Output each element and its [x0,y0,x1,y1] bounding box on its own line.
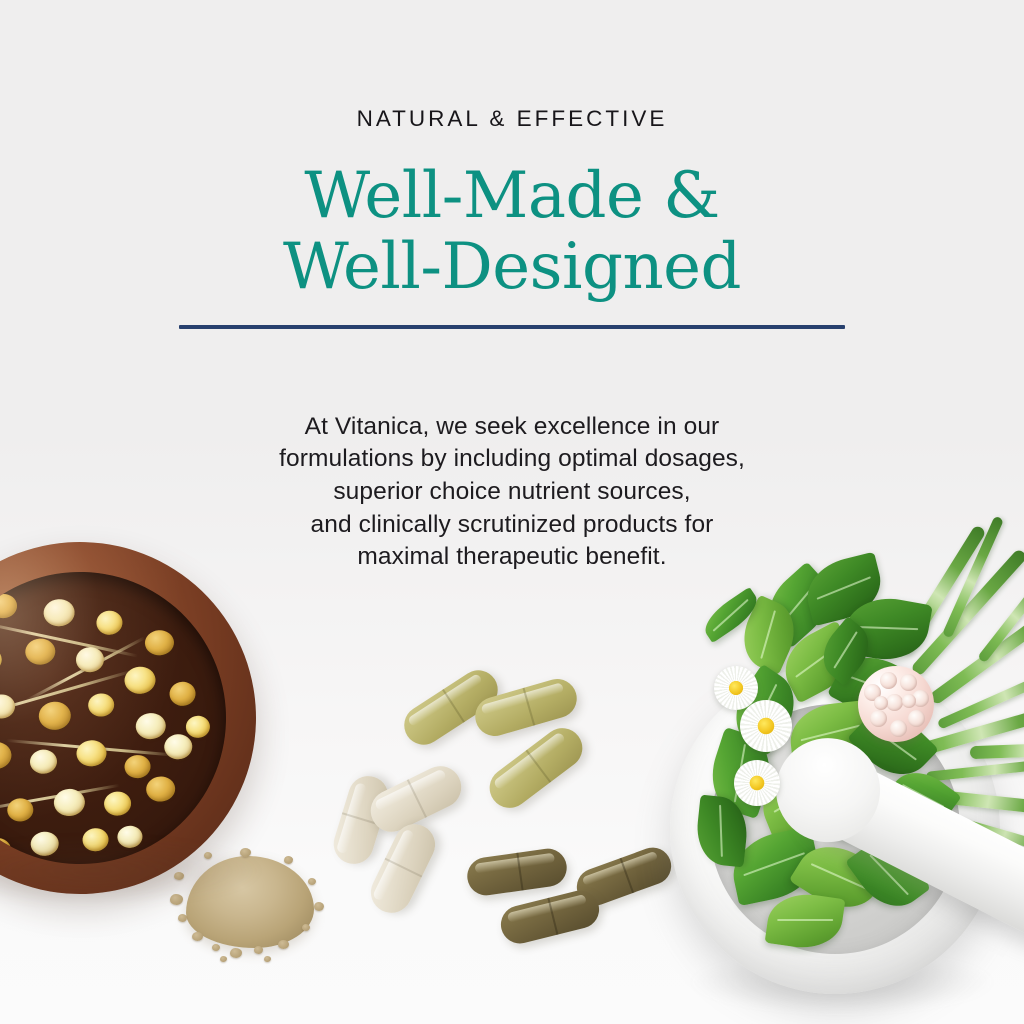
body-line: maximal therapeutic benefit. [0,541,1024,574]
brown-capsule [465,846,569,898]
body-line: At Vitanica, we seek excellence in our [0,411,1024,444]
body-line: formulations by including optimal dosage… [0,443,1024,476]
body-line: superior choice nutrient sources, [0,476,1024,509]
page-title: Well-Made &Well-Designed [0,131,1024,304]
headline-line-1: Well-Made & [304,159,719,233]
brown-capsule [497,886,603,947]
body-paragraph: At Vitanica, we seek excellence in our f… [0,304,1024,574]
headline-line-2: Well-Designed [0,232,1024,304]
eyebrow-text: NATURAL & EFFECTIVE [0,0,1024,131]
marketing-copy-block: NATURAL & EFFECTIVE Well-Made &Well-Desi… [0,0,1024,574]
mortar-and-pestle-scene [640,548,1024,1024]
pink-flower [858,666,934,742]
promo-canvas: NATURAL & EFFECTIVE Well-Made &Well-Desi… [0,0,1024,1024]
body-line: and clinically scrutinized products for [0,509,1024,542]
chamomile-bowl-interior [0,562,236,874]
